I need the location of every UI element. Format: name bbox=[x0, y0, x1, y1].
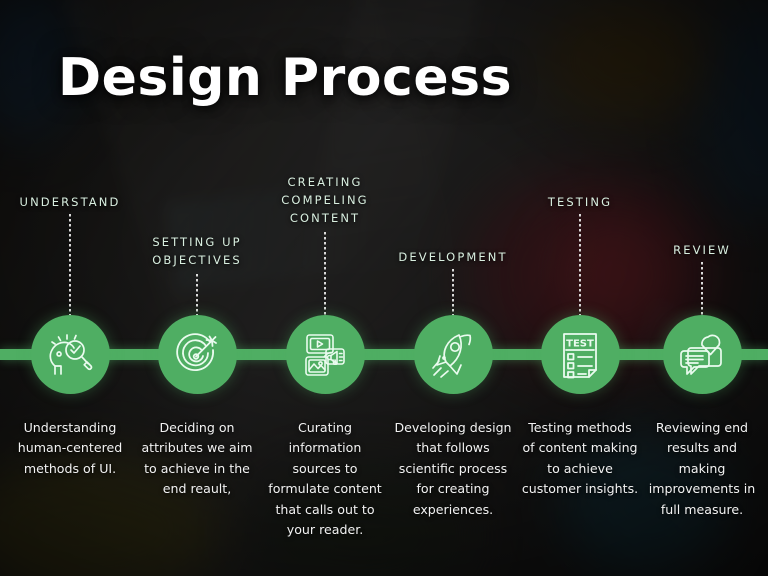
step-description-5: Testing methods of content making to ach… bbox=[521, 418, 639, 500]
step-label-development: DEVELOPMENT bbox=[379, 249, 527, 267]
svg-text:TEST: TEST bbox=[566, 338, 594, 349]
head-magnifier-check-icon bbox=[45, 330, 95, 380]
infographic-canvas: Design Process UNDERSTAND Unders bbox=[0, 0, 768, 576]
timeline-step-3: CREATING COMPELING CONTENT bbox=[261, 0, 389, 576]
timeline-step-6: REVIEW Reviewing end results and making … bbox=[638, 0, 766, 576]
step-connector-5 bbox=[579, 214, 581, 315]
step-connector-4 bbox=[452, 269, 454, 315]
step-label-understand: UNDERSTAND bbox=[0, 194, 144, 212]
step-connector-3 bbox=[324, 232, 326, 315]
step-circle-2[interactable] bbox=[158, 315, 237, 394]
timeline-step-1: UNDERSTAND Understanding human-centered … bbox=[6, 0, 134, 576]
content-media-megaphone-icon bbox=[300, 330, 350, 380]
step-circle-1[interactable] bbox=[31, 315, 110, 394]
step-connector-2 bbox=[196, 274, 198, 315]
step-description-2: Deciding on attributes we aim to achieve… bbox=[138, 418, 256, 500]
step-description-6: Reviewing end results and making improve… bbox=[643, 418, 761, 520]
step-label-creating-compeling-content: CREATING COMPELING CONTENT bbox=[251, 174, 399, 227]
step-circle-6[interactable] bbox=[663, 315, 742, 394]
target-dart-icon bbox=[173, 331, 221, 379]
timeline-step-4: DEVELOPMENT Developing design that follo… bbox=[389, 0, 517, 576]
step-connector-6 bbox=[701, 262, 703, 315]
step-description-1: Understanding human-centered methods of … bbox=[11, 418, 129, 479]
step-label-testing: TESTING bbox=[506, 194, 654, 212]
step-circle-3[interactable] bbox=[286, 315, 365, 394]
step-description-3: Curating information sources to formulat… bbox=[266, 418, 384, 540]
speech-bubble-heart-icon bbox=[677, 331, 727, 379]
step-connector-1 bbox=[69, 214, 71, 315]
test-clipboard-icon: TEST bbox=[557, 330, 603, 380]
timeline-step-5: TESTING TEST Testing methods of content bbox=[516, 0, 644, 576]
step-label-setting-up-objectives: SETTING UP OBJECTIVES bbox=[123, 234, 271, 270]
step-description-4: Developing design that follows scientifi… bbox=[394, 418, 512, 520]
step-circle-5[interactable]: TEST bbox=[541, 315, 620, 394]
rocket-icon bbox=[428, 330, 478, 380]
timeline-step-2: SETTING UP OBJECTIVES Deciding on attrib… bbox=[133, 0, 261, 576]
step-circle-4[interactable] bbox=[414, 315, 493, 394]
step-label-review: REVIEW bbox=[628, 242, 768, 260]
